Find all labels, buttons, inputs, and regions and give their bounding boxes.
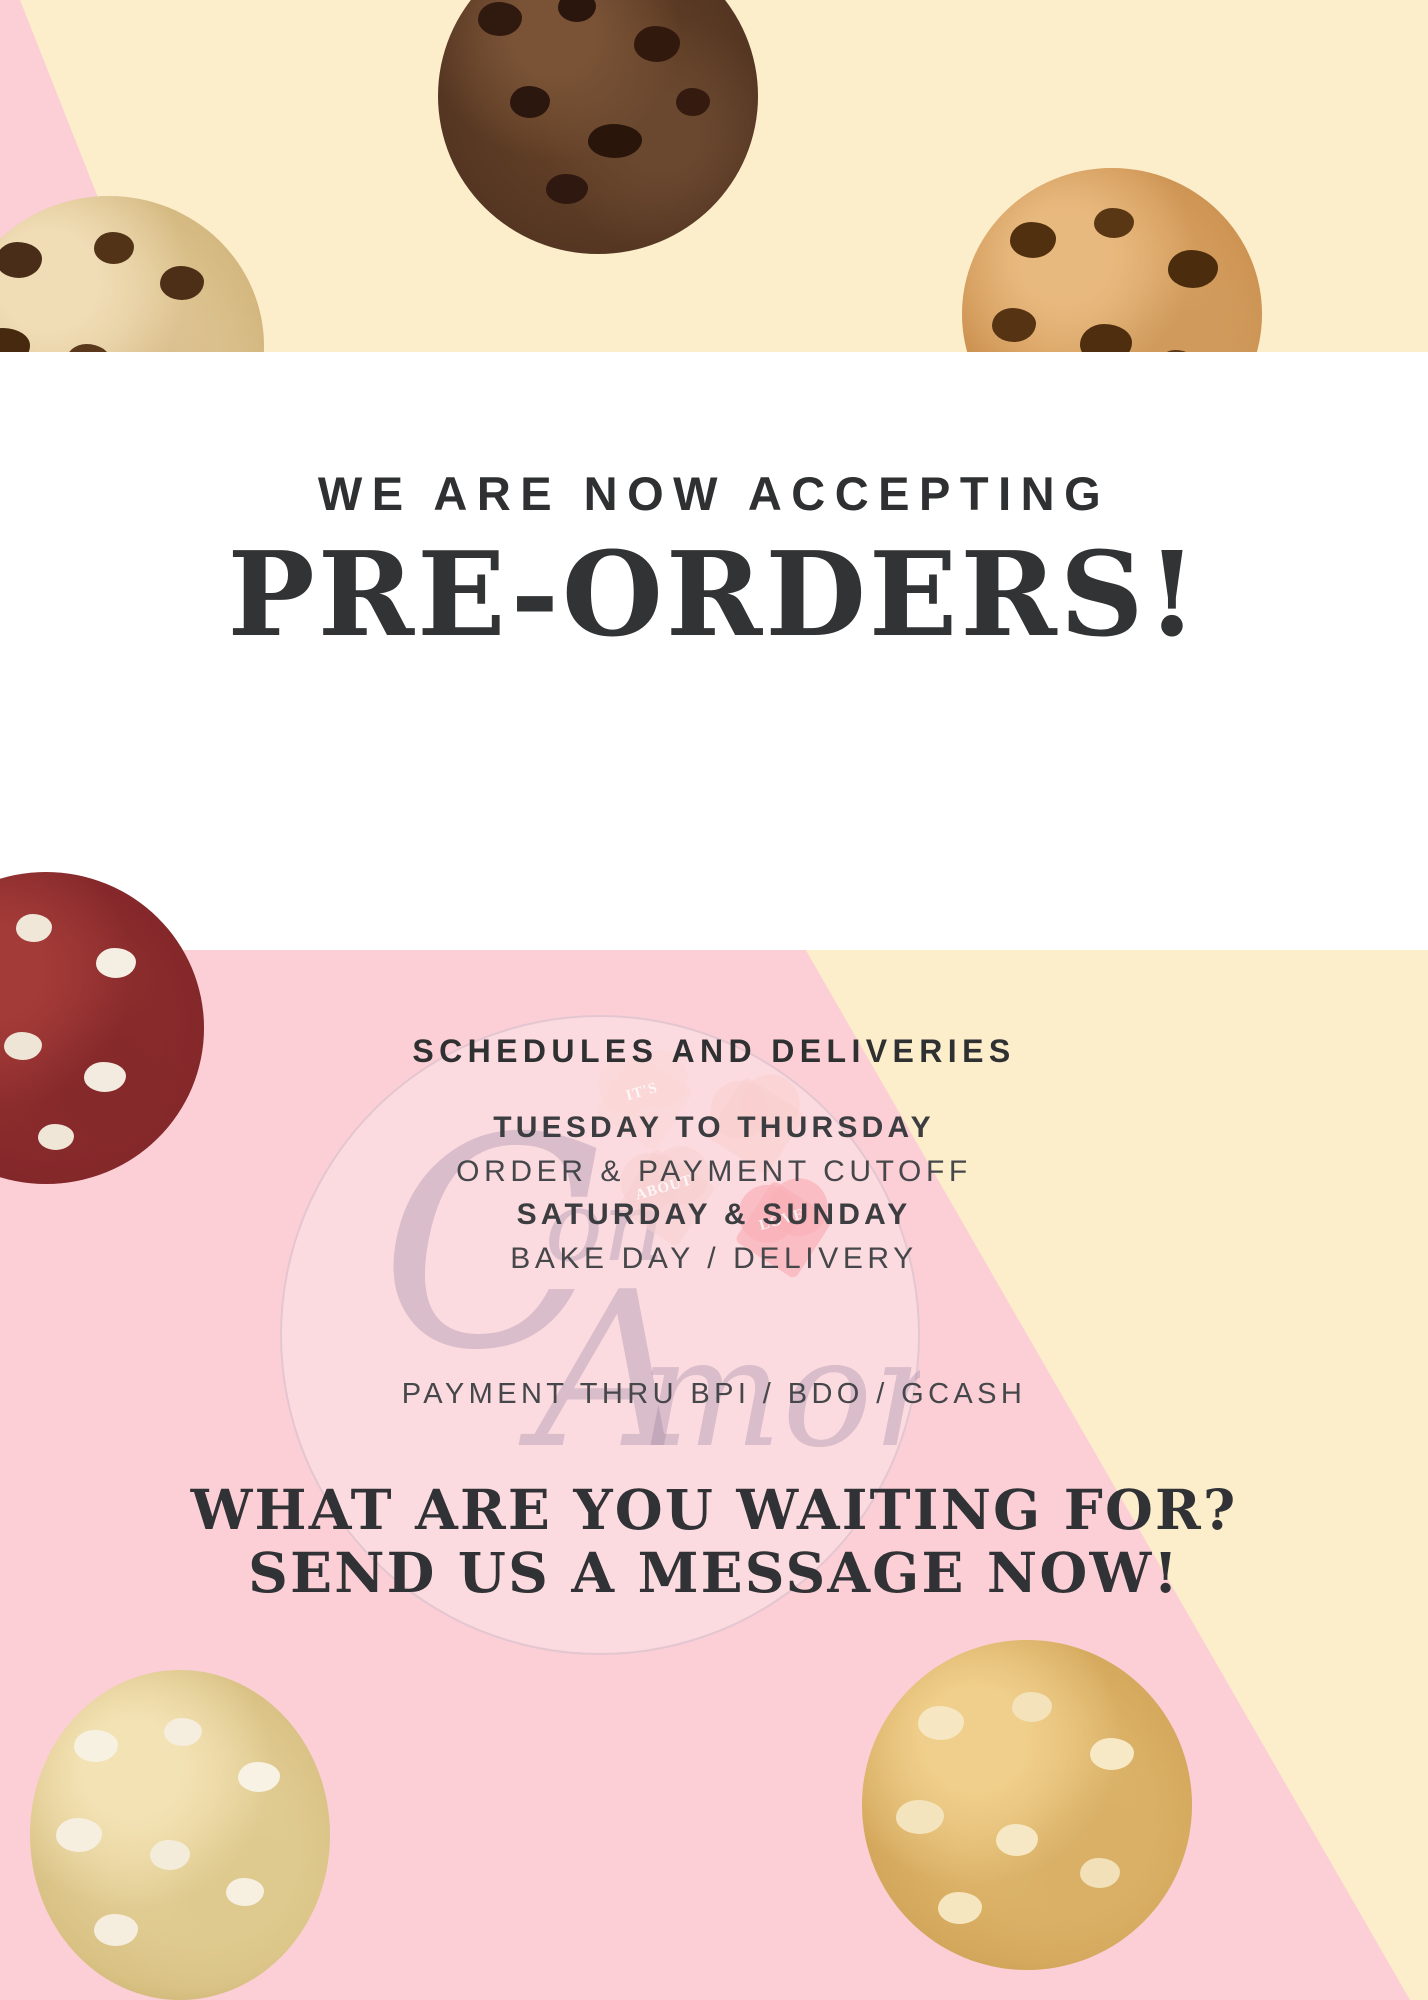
schedule-line-1: TUESDAY TO THURSDAY: [0, 1111, 1428, 1145]
white-chocolate-macadamia-cookie: [30, 1670, 330, 2000]
kicker-text: WE ARE NOW ACCEPTING: [0, 466, 1428, 521]
schedule-heading: SCHEDULES AND DELIVERIES: [0, 1033, 1428, 1070]
cta-line-2: SEND US A MESSAGE NOW!: [0, 1540, 1428, 1605]
schedule-line-4: BAKE DAY / DELIVERY: [0, 1242, 1428, 1276]
peanut-butter-cookie: [862, 1640, 1192, 1970]
poster-canvas: WE ARE NOW ACCEPTING PRE-ORDERS! C on A …: [0, 0, 1428, 2000]
page-title: PRE-ORDERS!: [0, 527, 1428, 663]
schedule-line-3: SATURDAY & SUNDAY: [0, 1198, 1428, 1232]
payment-methods-line: PAYMENT THRU BPI / BDO / GCASH: [0, 1378, 1428, 1411]
cta-line-1: WHAT ARE YOU WAITING FOR?: [0, 1477, 1428, 1542]
double-chocolate-cookie: [438, 0, 758, 254]
schedule-line-2: ORDER & PAYMENT CUTOFF: [0, 1155, 1428, 1189]
